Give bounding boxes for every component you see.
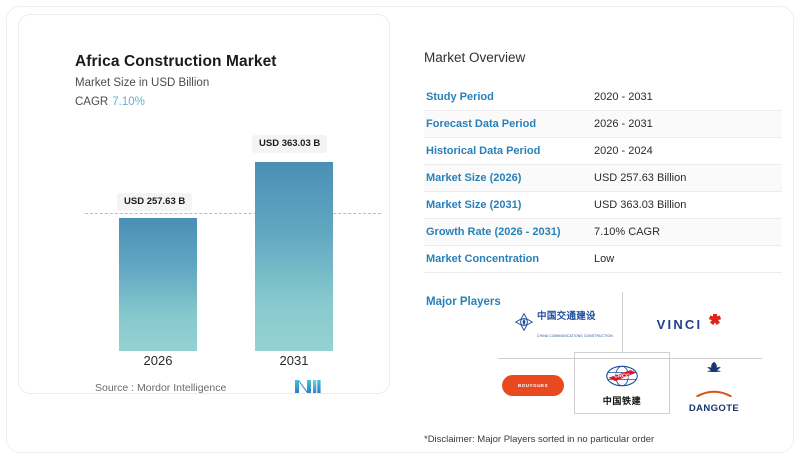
- row-value: Low: [594, 253, 614, 265]
- row-value: 2020 - 2031: [594, 91, 653, 103]
- players-disclaimer: *Disclaimer: Major Players sorted in no …: [424, 434, 654, 445]
- vinci-cross-icon: [707, 314, 723, 335]
- cccc-name-en: CHINA COMMUNICATIONS CONSTRUCTION: [537, 334, 613, 338]
- vinci-wordmark: VINCI: [657, 317, 703, 332]
- player-logo-cccc: 中国交通建设 CHINA COMMUNICATIONS CONSTRUCTION: [512, 304, 616, 344]
- player-logo-bouygues: BOUYGUES: [498, 368, 568, 402]
- bar-chart-plot: USD 257.63 B USD 363.03 B: [75, 125, 385, 351]
- source-row: Source : Mordor Intelligence: [95, 378, 375, 398]
- row-label: Market Size (2026): [424, 172, 594, 184]
- cagr-label: CAGR: [75, 96, 108, 108]
- row-value: USD 257.63 Billion: [594, 172, 686, 184]
- dangote-wordmark: DANGOTE: [689, 403, 739, 414]
- cagr-value: 7.10%: [112, 96, 145, 108]
- row-label: Historical Data Period: [424, 145, 594, 157]
- major-players-grid: 中国交通建设 CHINA COMMUNICATIONS CONSTRUCTION…: [490, 292, 770, 420]
- market-overview-panel: Market Overview Study Period 2020 - 2031…: [410, 14, 784, 446]
- row-value: 2020 - 2024: [594, 145, 653, 157]
- row-value: USD 363.03 Billion: [594, 199, 686, 211]
- row-label: Forecast Data Period: [424, 118, 594, 130]
- reference-line: [85, 213, 381, 214]
- row-value: 7.10% CAGR: [594, 226, 660, 238]
- bar-label-2031: USD 363.03 B: [252, 135, 327, 153]
- x-tick-2026: 2026: [119, 353, 197, 368]
- svg-text:CRCC: CRCC: [614, 374, 630, 380]
- player-logo-crcc: CRCC 中国铁建: [584, 364, 660, 408]
- row-value: 2026 - 2031: [594, 118, 653, 130]
- market-overview-title: Market Overview: [424, 50, 525, 65]
- chart-card: Africa Construction Market Market Size i…: [18, 14, 390, 394]
- chart-title: Africa Construction Market: [75, 53, 277, 71]
- market-overview-table: Study Period 2020 - 2031 Forecast Data P…: [424, 84, 782, 273]
- bouygues-wordmark: BOUYGUES: [518, 383, 548, 388]
- cccc-name-cn: 中国交通建设: [537, 311, 596, 322]
- bouygues-pill-icon: BOUYGUES: [502, 375, 564, 396]
- x-tick-2031: 2031: [255, 353, 333, 368]
- infographic-root: Africa Construction Market Market Size i…: [0, 0, 800, 459]
- chart-subtitle: Market Size in USD Billion: [75, 77, 209, 89]
- player-logo-vinci: VINCI: [638, 304, 742, 344]
- bar-2026: [119, 218, 197, 351]
- crcc-name-cn: 中国铁建: [603, 394, 641, 407]
- x-axis-labels: 2026 2031: [75, 353, 385, 371]
- bar-label-2026: USD 257.63 B: [117, 193, 192, 211]
- cagr-row: CAGR7.10%: [75, 96, 145, 108]
- table-row: Growth Rate (2026 - 2031) 7.10% CAGR: [424, 219, 782, 246]
- row-label: Market Concentration: [424, 253, 594, 265]
- dangote-eagle-icon: [701, 361, 727, 383]
- player-logo-dangote: DANGOTE: [674, 366, 754, 408]
- row-label: Growth Rate (2026 - 2031): [424, 226, 594, 238]
- table-row: Forecast Data Period 2026 - 2031: [424, 111, 782, 138]
- crcc-globe-icon: CRCC: [605, 365, 639, 392]
- mordor-intelligence-logo: [295, 379, 321, 399]
- cccc-emblem-icon: [515, 313, 533, 336]
- source-text: Source : Mordor Intelligence: [95, 382, 226, 394]
- table-row: Historical Data Period 2020 - 2024: [424, 138, 782, 165]
- table-row: Market Size (2031) USD 363.03 Billion: [424, 192, 782, 219]
- table-row: Study Period 2020 - 2031: [424, 84, 782, 111]
- table-row: Market Size (2026) USD 257.63 Billion: [424, 165, 782, 192]
- connector-line-vertical: [622, 292, 623, 352]
- table-row: Market Concentration Low: [424, 246, 782, 273]
- dangote-arc-icon: [696, 384, 732, 402]
- row-label: Market Size (2031): [424, 199, 594, 211]
- row-label: Study Period: [424, 91, 594, 103]
- bar-2031: [255, 162, 333, 351]
